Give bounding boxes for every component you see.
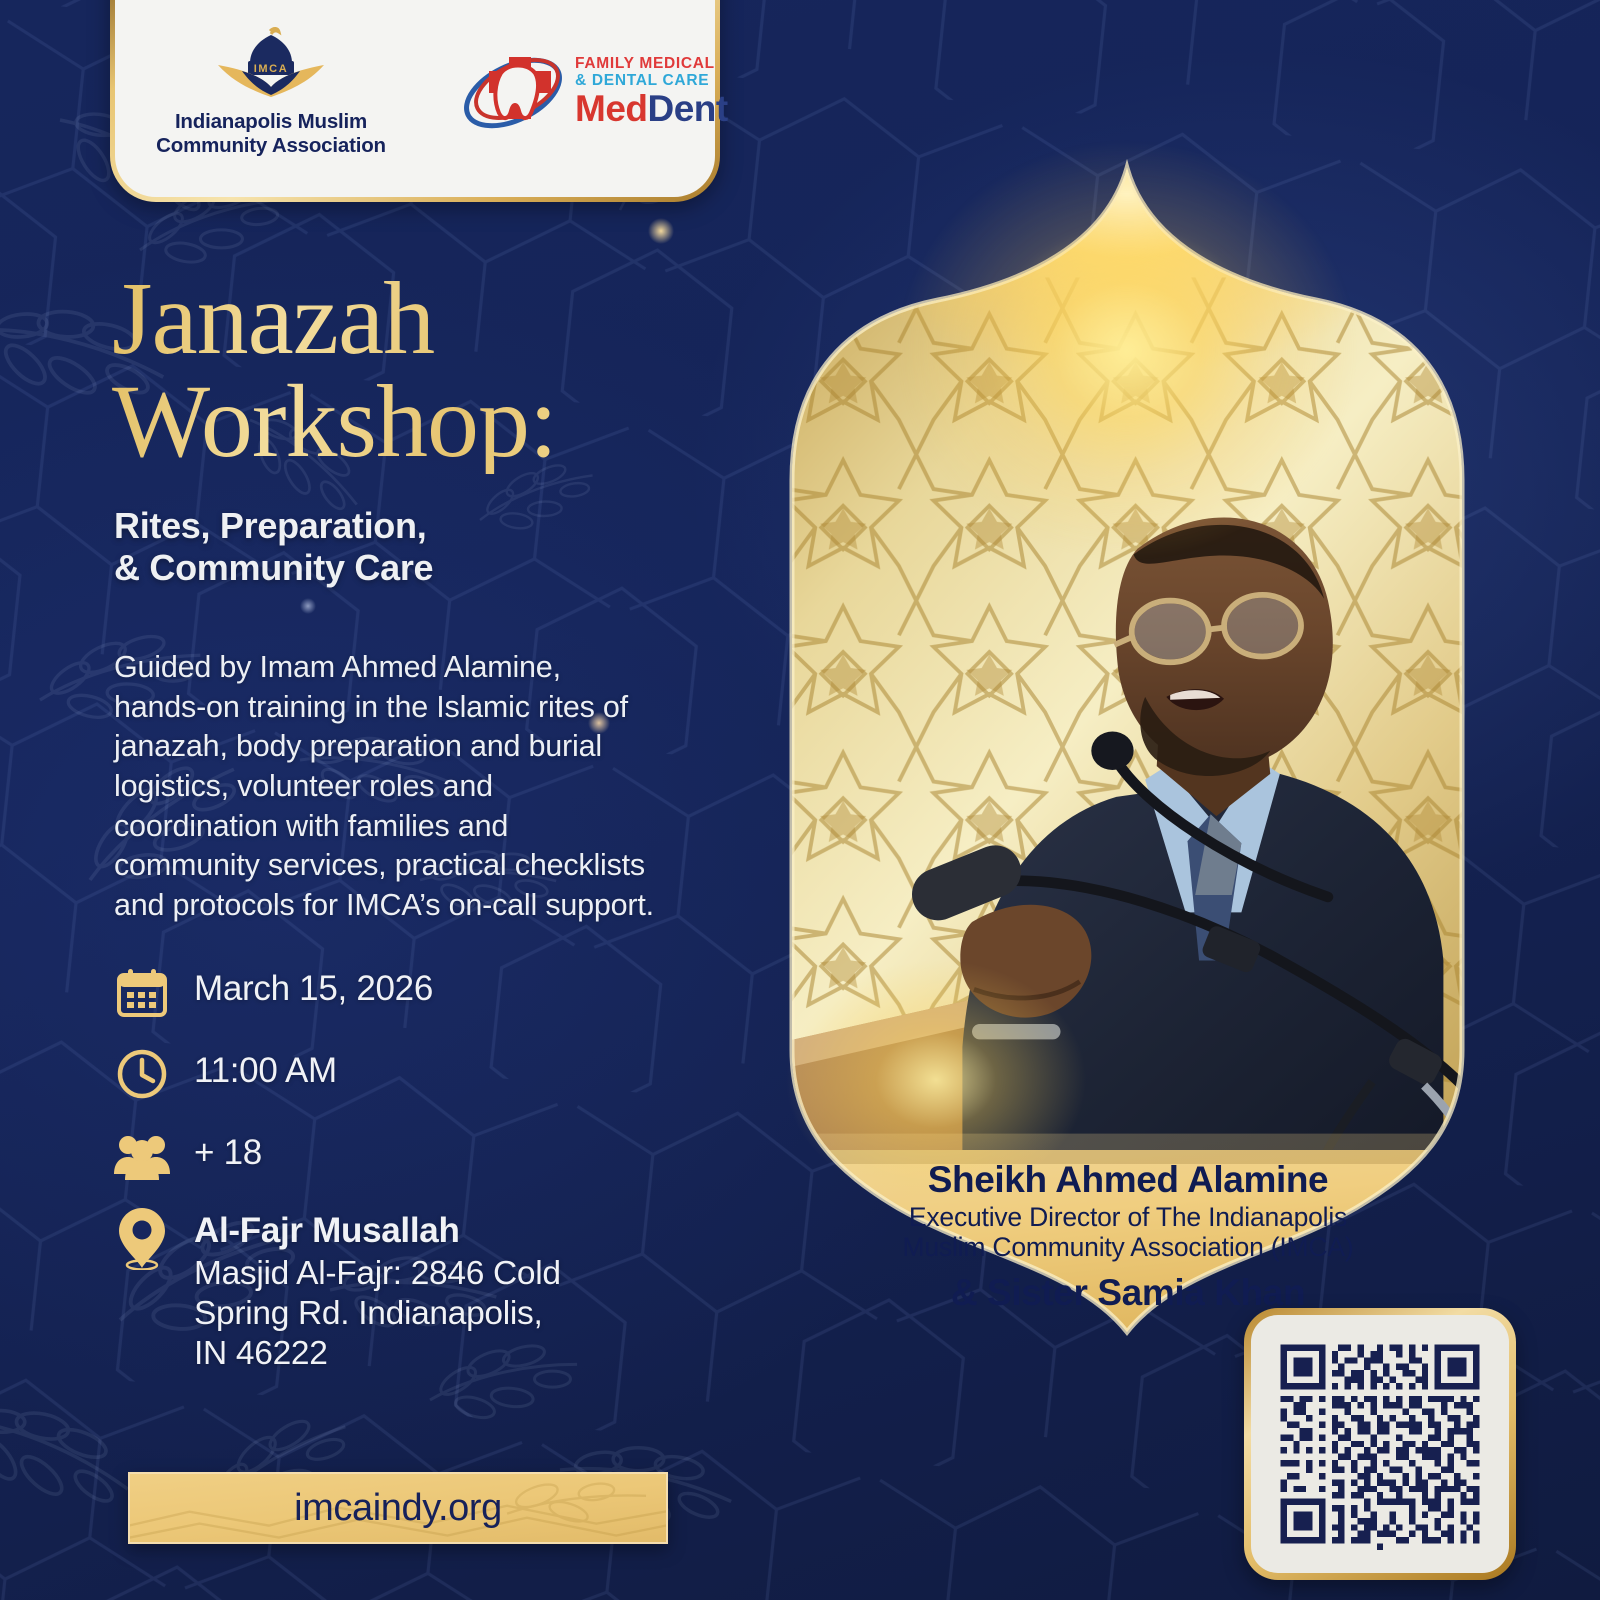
clock-icon xyxy=(112,1044,172,1104)
meddent-tooth-cross-logo xyxy=(459,41,567,141)
imca-name: Indianapolis Muslim Community Associatio… xyxy=(156,110,386,156)
co-host-name: & Sister Samia Khan xyxy=(951,1272,1305,1314)
meddent-logo-block: FAMILY MEDICAL & DENTAL CARE MedDent xyxy=(459,41,742,141)
event-details-list: March 15, 2026 11:00 AM + xyxy=(112,962,692,1397)
location-address-line-1: Masjid Al-Fajr: 2846 Cold xyxy=(194,1255,561,1292)
imca-logo-block: IMCA Indianapolis Muslim Community Assoc… xyxy=(115,25,415,156)
speaker-name: Sheikh Ahmed Alamine xyxy=(928,1160,1328,1200)
sponsor-logo-card: IMCA Indianapolis Muslim Community Assoc… xyxy=(110,0,720,202)
calendar-icon xyxy=(112,962,172,1022)
detail-row-time: 11:00 AM xyxy=(112,1044,692,1104)
svg-text:IMCA: IMCA xyxy=(254,63,289,75)
headline-line-2: Workshop: xyxy=(112,371,752,474)
sparkle-dot xyxy=(648,218,674,244)
speaker-title-line-2: Muslim Community Association (IMCA) xyxy=(903,1232,1354,1262)
poster-headline: Janazah Workshop: xyxy=(112,268,752,474)
speaker-nameplate: Sheikh Ahmed Alamine Executive Director … xyxy=(778,1152,1478,1322)
people-icon xyxy=(112,1126,172,1186)
detail-value-age: + 18 xyxy=(194,1126,262,1174)
event-poster: IMCA Indianapolis Muslim Community Assoc… xyxy=(0,0,1600,1600)
detail-row-location: Al-Fajr Musallah Masjid Al-Fajr: 2846 Co… xyxy=(112,1208,692,1375)
subheadline-line-2: & Community Care xyxy=(114,547,734,589)
subheadline-line-1: Rites, Preparation, xyxy=(114,505,734,547)
location-address-line-3: IN 46222 xyxy=(194,1335,328,1372)
qr-code xyxy=(1274,1338,1486,1550)
website-label: imcaindy.org xyxy=(294,1487,502,1530)
website-bar[interactable]: imcaindy.org xyxy=(128,1472,668,1544)
imca-mosque-book-logo: IMCA xyxy=(212,25,330,101)
detail-row-date: March 15, 2026 xyxy=(112,962,692,1022)
arch-top-glow xyxy=(897,140,1357,560)
poster-subheadline: Rites, Preparation, & Community Care xyxy=(114,505,734,589)
location-address-line-2: Spring Rd. Indianapolis, xyxy=(194,1295,543,1332)
speaker-title: Executive Director of The Indianapolis M… xyxy=(903,1203,1354,1262)
detail-value-time: 11:00 AM xyxy=(194,1044,337,1092)
qr-code-card[interactable] xyxy=(1244,1308,1516,1580)
detail-value-location: Al-Fajr Musallah Masjid Al-Fajr: 2846 Co… xyxy=(194,1208,561,1375)
speaker-title-line-1: Executive Director of The Indianapolis xyxy=(909,1202,1347,1232)
detail-row-age: + 18 xyxy=(112,1126,692,1186)
meddent-wordmark: MedDent xyxy=(575,90,728,127)
detail-value-date: March 15, 2026 xyxy=(194,962,433,1010)
poster-description: Guided by Imam Ahmed Alamine, hands-on t… xyxy=(114,648,659,925)
map-pin-icon xyxy=(112,1208,172,1268)
meddent-tagline: FAMILY MEDICAL & DENTAL CARE xyxy=(575,55,728,90)
sparkle-dot xyxy=(300,598,316,614)
headline-line-1: Janazah xyxy=(112,261,434,376)
location-name: Al-Fajr Musallah xyxy=(194,1210,561,1252)
